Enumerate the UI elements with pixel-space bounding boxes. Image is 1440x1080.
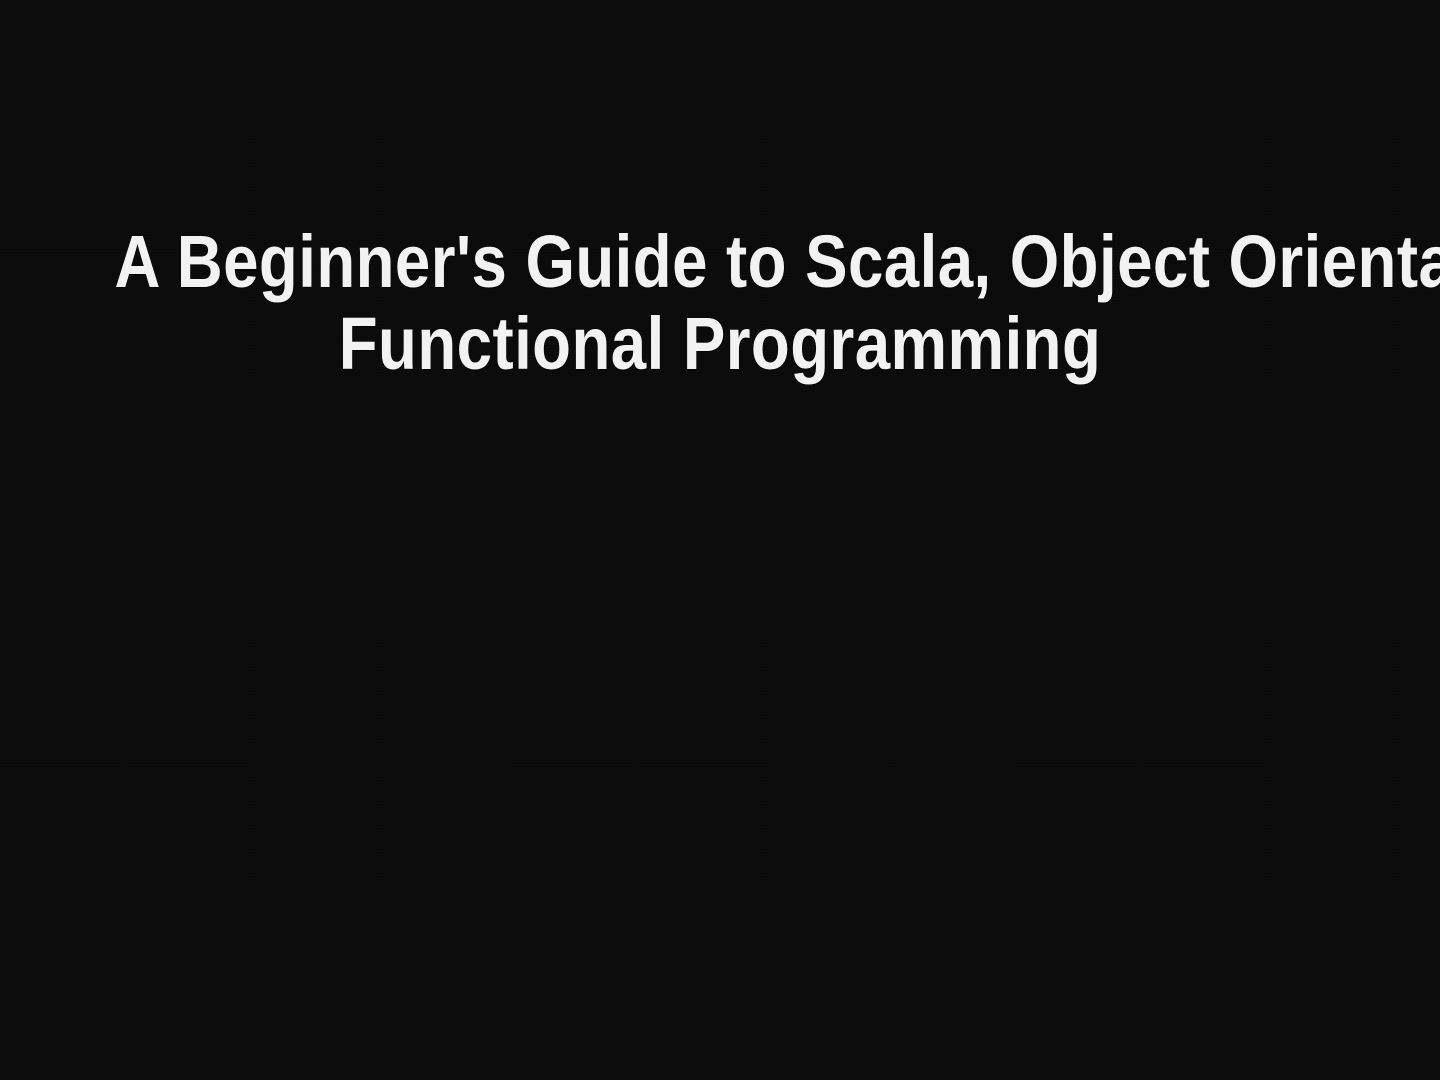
cover-title-line-1: A Beginner's Guide to Scala, Object Orie…	[115, 222, 1326, 302]
book-cover: A Beginner's Guide to Scala, Object Orie…	[0, 0, 1440, 1080]
cover-title-line-2: Functional Programming	[115, 304, 1326, 384]
cover-title: A Beginner's Guide to Scala, Object Orie…	[0, 222, 1440, 384]
